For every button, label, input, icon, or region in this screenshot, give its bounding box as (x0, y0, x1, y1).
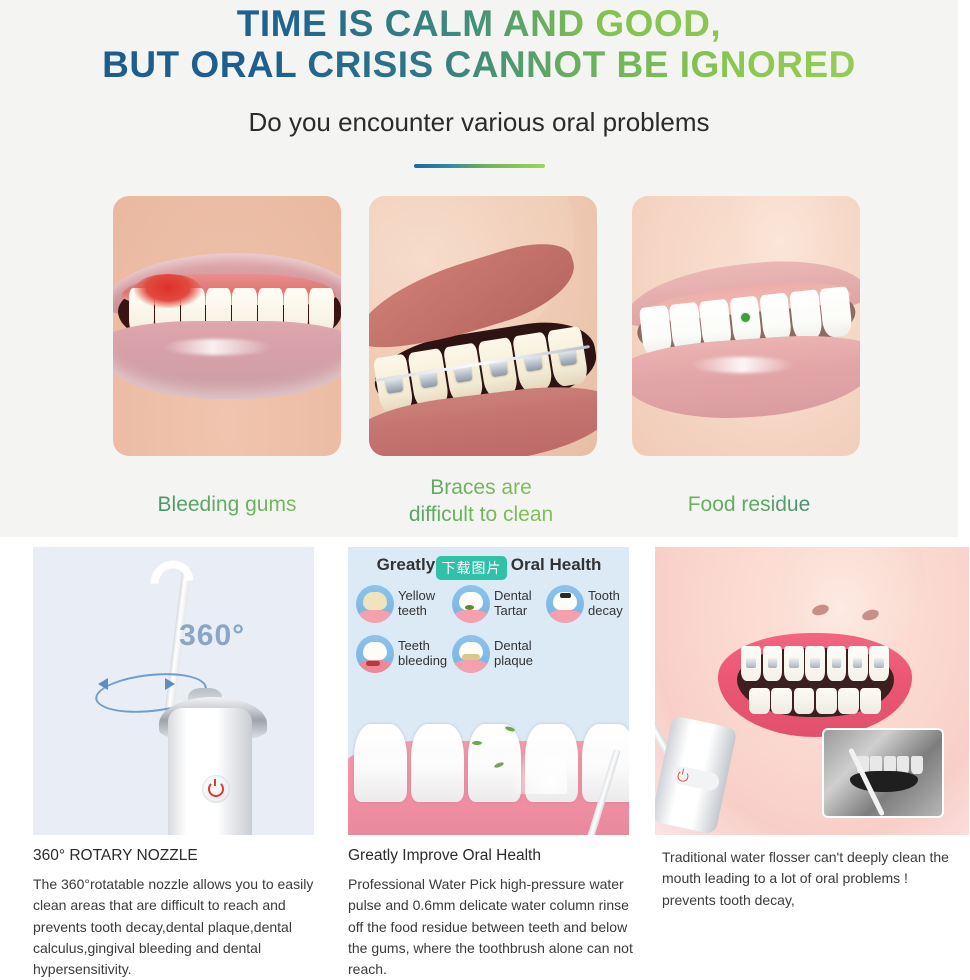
rotation-arrow-right-icon (165, 678, 175, 690)
feature-body-rotary-nozzle: The 360°rotatable nozzle allows you to e… (33, 874, 323, 980)
tartar-tooth-icon (452, 585, 490, 623)
device-body (168, 708, 252, 835)
hero-subtitle: Do you encounter various oral problems (0, 107, 958, 138)
yellow-tooth-icon (356, 585, 394, 623)
hero-section: TIME IS CALM AND GOOD, BUT ORAL CRISIS C… (0, 0, 958, 537)
infographic-icon-tooth-decay: Tooth decay (546, 585, 623, 623)
icon-label-dental-plaque: Dental plaque (494, 639, 533, 668)
360-degree-label: 360° (179, 619, 245, 653)
nozzle-tip (141, 552, 202, 613)
feature-text-rotary-nozzle: 360° ROTARY NOZZLE The 360°rotatable noz… (33, 847, 323, 980)
decayed-tooth-icon (546, 585, 584, 623)
bleeding-gum-icon (356, 635, 394, 673)
power-icon (208, 781, 224, 797)
feature-title-rotary-nozzle: 360° ROTARY NOZZLE (33, 847, 323, 865)
feature-text-traditional-flosser: Traditional water flosser can't deeply c… (662, 847, 962, 911)
feature-image-oral-health-infographic: Greatly Improve Oral Health 下载图片 Yellow … (348, 547, 629, 835)
feature-body-traditional-flosser: Traditional water flosser can't deeply c… (662, 847, 962, 911)
icon-label-teeth-bleeding: Teeth bleeding (398, 639, 447, 668)
problem-image-food-residue (632, 196, 860, 456)
problem-caption-food-residue: Food residue (619, 492, 879, 519)
icon-label-dental-tartar: Dental Tartar (494, 589, 532, 618)
infographic-icon-dental-plaque: Dental plaque (452, 635, 533, 673)
hero-title-line-2: BUT ORAL CRISIS CANNOT BE IGNORED (0, 45, 958, 84)
infographic-icon-yellow-teeth: Yellow teeth (356, 585, 435, 623)
plaque-tooth-icon (452, 635, 490, 673)
feature-body-oral-health: Professional Water Pick high-pressure wa… (348, 874, 640, 980)
power-button[interactable] (671, 765, 721, 792)
rotation-arrow-left-icon (98, 678, 108, 690)
problem-caption-bleeding-gums: Bleeding gums (97, 492, 357, 519)
power-button[interactable] (202, 775, 230, 803)
problem-image-bleeding-gums (113, 196, 341, 456)
feature-image-braces-cleaning (655, 547, 969, 835)
infographic-icon-dental-tartar: Dental Tartar (452, 585, 532, 623)
icon-label-tooth-decay: Tooth decay (588, 589, 623, 618)
feature-text-oral-health: Greatly Improve Oral Health Professional… (348, 847, 640, 980)
feature-title-oral-health: Greatly Improve Oral Health (348, 847, 640, 865)
icon-label-yellow-teeth: Yellow teeth (398, 589, 435, 618)
grayscale-inset-photo (822, 728, 944, 818)
problem-caption-braces-line2: difficult to clean (351, 502, 611, 529)
gradient-divider (414, 164, 545, 168)
problem-caption-braces-line1: Braces are (351, 475, 611, 502)
teeth-and-gums-illustration (348, 697, 629, 835)
water-spray (511, 742, 567, 794)
problem-caption-braces: Braces are difficult to clean (351, 475, 611, 529)
hero-title-line-1: TIME IS CALM AND GOOD, (0, 4, 958, 43)
power-icon (677, 769, 690, 782)
download-image-badge[interactable]: 下载图片 (436, 556, 507, 580)
problem-image-braces (369, 196, 597, 456)
infographic-icon-teeth-bleeding: Teeth bleeding (356, 635, 447, 673)
features-section: 360° Greatly Improve Oral Health 下载图片 Ye… (0, 537, 970, 970)
feature-image-rotary-nozzle: 360° (33, 547, 314, 835)
